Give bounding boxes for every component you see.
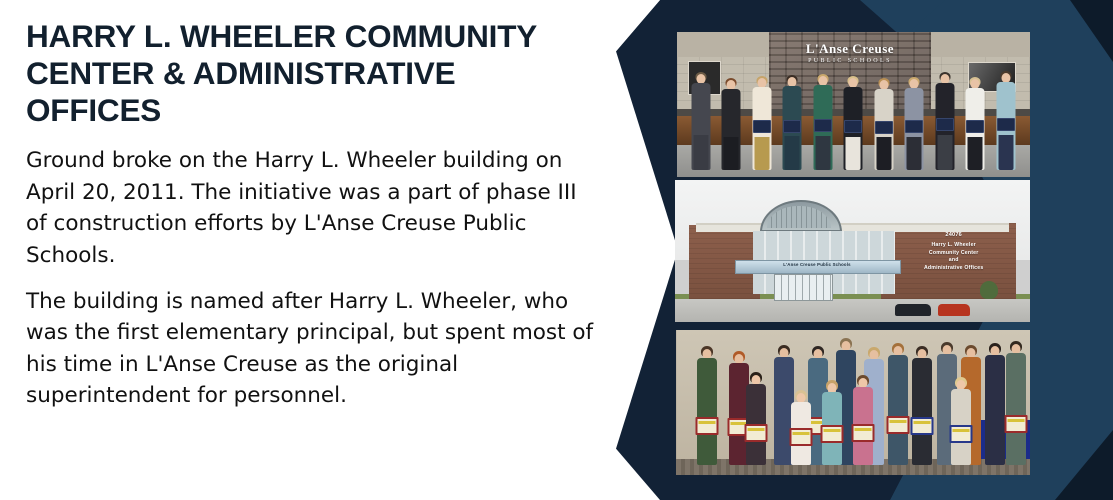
award-certificate <box>1005 415 1028 433</box>
award-certificate <box>844 120 862 133</box>
photo-board-recognition: L'Anse Creuse PUBLIC SCHOOLS <box>677 32 1030 177</box>
person-figure <box>751 78 773 170</box>
legs <box>998 135 1013 170</box>
person-figure <box>792 393 810 465</box>
award-certificate <box>814 119 832 132</box>
award-recipients-group <box>680 340 1027 465</box>
person-figure <box>822 383 842 465</box>
person-figure <box>911 349 934 465</box>
person-figure <box>903 79 925 170</box>
photo-student-awards <box>676 330 1030 475</box>
legs <box>846 137 861 170</box>
person-figure <box>842 78 864 170</box>
person-figure <box>1005 344 1028 465</box>
torso <box>697 358 717 465</box>
torso <box>888 355 908 464</box>
car-dark <box>895 304 931 317</box>
building-sign-line1: Harry L. Wheeler <box>931 242 975 248</box>
car-red <box>938 304 970 315</box>
person-figure <box>695 349 719 465</box>
torso <box>1006 353 1026 465</box>
legs <box>907 137 922 170</box>
person-figure <box>720 80 742 170</box>
person-figure <box>934 74 956 170</box>
decorative-graphic-panel: L'Anse Creuse PUBLIC SCHOOLS <box>600 0 1113 500</box>
award-certificate <box>875 121 893 134</box>
torso <box>985 355 1005 464</box>
body-paragraph-2: The building is named after Harry L. Whe… <box>26 286 594 412</box>
entry-doors <box>774 274 833 302</box>
award-certificate <box>696 417 719 435</box>
slide-root: L'Anse Creuse PUBLIC SCHOOLS <box>0 0 1113 500</box>
person-figure <box>995 73 1017 170</box>
building-sign-line2: Community Center <box>929 250 979 256</box>
award-certificate <box>997 118 1015 131</box>
award-certificate <box>753 120 771 133</box>
body-paragraph-1: Ground broke on the Harry L. Wheeler bui… <box>26 145 594 271</box>
person-figure <box>951 380 971 465</box>
district-logo-subtitle: PUBLIC SCHOOLS <box>783 58 917 64</box>
person-figure <box>853 378 874 465</box>
award-certificate <box>936 118 954 131</box>
award-certificate <box>966 120 984 133</box>
building-sign-line4: Administrative Offices <box>924 265 983 271</box>
award-certificate <box>905 120 923 133</box>
legs <box>968 137 983 170</box>
building-sign-line3: and <box>949 257 959 263</box>
award-certificate <box>783 120 801 133</box>
legs <box>724 137 739 169</box>
recognized-staff-group <box>684 65 1023 169</box>
person-figure <box>873 80 895 170</box>
person-figure <box>781 77 803 170</box>
award-certificate <box>949 425 972 443</box>
parking-lot <box>675 298 1030 322</box>
legs <box>937 135 952 170</box>
building-sign-number: 24076 <box>895 231 1012 239</box>
legs <box>754 137 769 170</box>
award-certificate <box>744 424 767 442</box>
award-certificate <box>911 417 934 435</box>
photo-building-exterior: L'Anse Creuse Public Schools 24076 Harry… <box>675 180 1030 322</box>
tree <box>980 281 998 299</box>
person-figure <box>745 375 766 465</box>
legs <box>785 136 800 169</box>
marquee-text: L'Anse Creuse Public Schools <box>739 262 895 267</box>
award-certificate <box>852 424 875 442</box>
person-figure <box>690 74 712 170</box>
photo-collage: L'Anse Creuse PUBLIC SCHOOLS <box>600 0 1113 500</box>
award-certificate <box>887 416 910 434</box>
legs <box>815 136 830 170</box>
district-logo-name: L'Anse Creuse <box>806 41 894 56</box>
page-title: HARRY L. WHEELER COMMUNITY CENTER & ADMI… <box>26 18 566 129</box>
legs <box>876 137 891 169</box>
award-certificate <box>789 428 812 446</box>
person-figure <box>964 79 986 170</box>
text-column: HARRY L. WHEELER COMMUNITY CENTER & ADMI… <box>0 0 620 500</box>
torso <box>912 358 932 465</box>
person-figure <box>812 76 834 170</box>
person-figure <box>984 346 1007 464</box>
legs <box>693 135 708 170</box>
award-certificate <box>821 425 844 443</box>
building-sign: 24076 Harry L. Wheeler Community Center … <box>895 231 1012 272</box>
person-figure <box>887 346 910 464</box>
